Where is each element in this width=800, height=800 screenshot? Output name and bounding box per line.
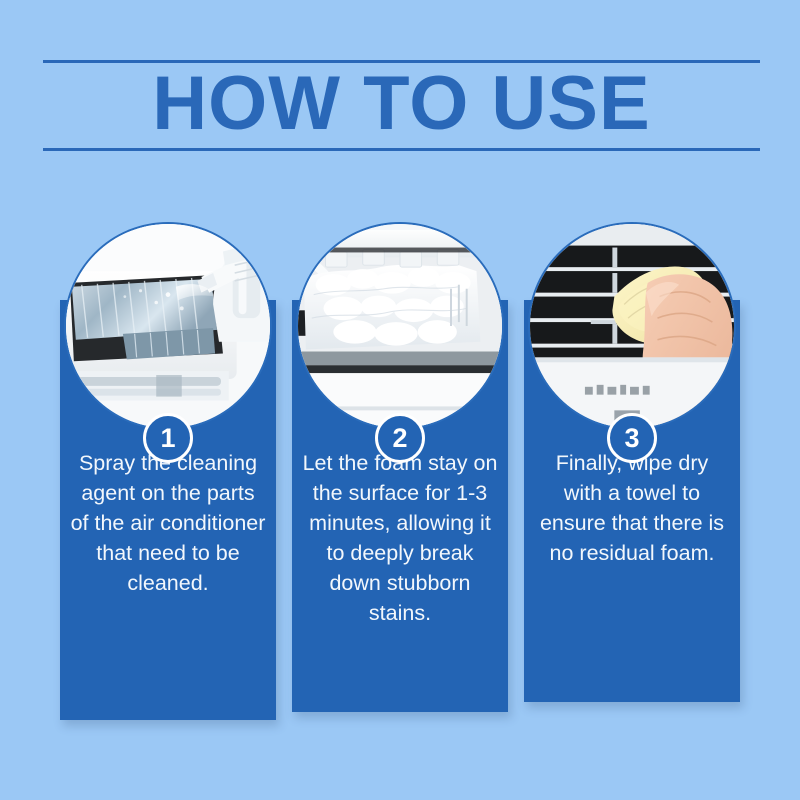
steps-row: 1 Spray the cleaning agent on the parts … xyxy=(60,300,740,720)
step-description-2: Let the foam stay on the surface for 1-3… xyxy=(302,448,498,628)
step-description-1: Spray the cleaning agent on the parts of… xyxy=(70,448,266,598)
step-card-2: 2 Let the foam stay on the surface for 1… xyxy=(292,300,508,712)
page-title: HOW TO USE xyxy=(43,58,760,150)
step-1-photo xyxy=(64,222,272,430)
title-rule-bottom xyxy=(43,148,760,151)
step-card-1: 1 Spray the cleaning agent on the parts … xyxy=(60,300,276,720)
how-to-use-infographic: HOW TO USE xyxy=(0,0,800,800)
step-3-photo xyxy=(528,222,736,430)
step-number-badge-3: 3 xyxy=(607,413,657,463)
step-description-3: Finally, wipe dry with a towel to ensure… xyxy=(534,448,730,568)
step-card-3: 3 Finally, wipe dry with a towel to ensu… xyxy=(524,300,740,702)
title-block: HOW TO USE xyxy=(43,52,760,152)
step-2-photo xyxy=(296,222,504,430)
step-number-badge-1: 1 xyxy=(143,413,193,463)
step-number-badge-2: 2 xyxy=(375,413,425,463)
